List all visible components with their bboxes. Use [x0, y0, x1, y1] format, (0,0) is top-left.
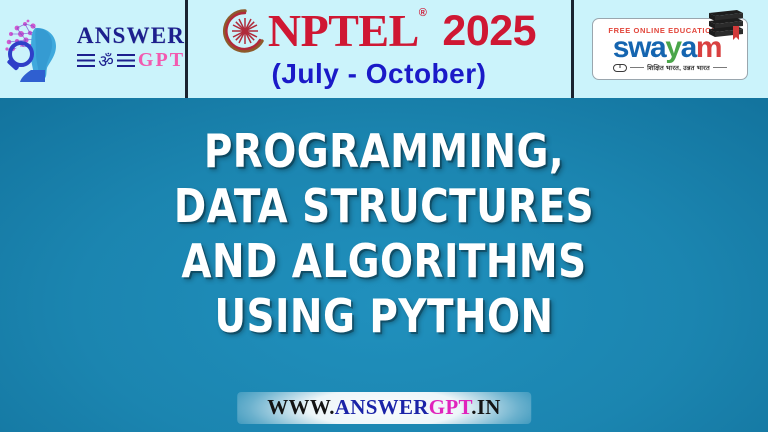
computer-mouse-icon: [613, 64, 627, 72]
nptel-branding: NPTEL® 2025 (July - October): [186, 0, 572, 98]
course-title-line-3: AND ALGORITHMS: [23, 234, 745, 289]
nptel-wordmark: NPTEL®: [268, 8, 426, 54]
swayam-hindi-tagline: शिक्षित भारत, उन्नत भारत: [647, 63, 710, 72]
course-title-line-2: DATA STRUCTURES: [23, 179, 745, 234]
header-bar: ANSWER: [0, 0, 768, 98]
brand-name-gpt: GPT: [138, 50, 185, 70]
brand-name-answer: ANSWER: [77, 24, 185, 47]
course-title-line-4: USING PYTHON: [23, 289, 745, 344]
svg-text:ॐ: ॐ: [98, 52, 114, 70]
course-title-line-1: PROGRAMMING,: [23, 124, 745, 179]
registered-trademark-icon: ®: [419, 7, 427, 19]
website-url: WWW.ANSWERGPT.IN: [267, 395, 501, 419]
url-gpt: GPT: [429, 395, 472, 419]
swayam-branding: FREE ONLINE EDUCATION swayam शिक्षित भार…: [572, 0, 768, 98]
header-divider-left: [185, 0, 188, 98]
om-lines-icon: ॐ: [77, 51, 135, 70]
course-thumbnail: ANSWER: [0, 0, 768, 432]
nptel-star-emblem-icon: [222, 8, 268, 54]
stacked-books-icon: [703, 7, 747, 43]
course-title: PROGRAMMING, DATA STRUCTURES AND ALGORIT…: [0, 124, 768, 344]
url-www: WWW.: [267, 395, 335, 419]
nptel-year: 2025: [442, 10, 536, 53]
course-period: (July - October): [272, 60, 487, 88]
brand-answergpt[interactable]: ANSWER: [0, 0, 186, 98]
swayam-rule-left: [630, 67, 644, 68]
brain-face-magnifier-icon: [1, 12, 73, 82]
swayam-rule-right: [713, 67, 727, 68]
url-answer: ANSWER: [335, 395, 429, 419]
url-tld: .IN: [471, 395, 501, 419]
website-url-plate[interactable]: WWW.ANSWERGPT.IN: [237, 392, 531, 424]
main-panel: PROGRAMMING, DATA STRUCTURES AND ALGORIT…: [0, 98, 768, 432]
header-divider-right: [571, 0, 574, 98]
